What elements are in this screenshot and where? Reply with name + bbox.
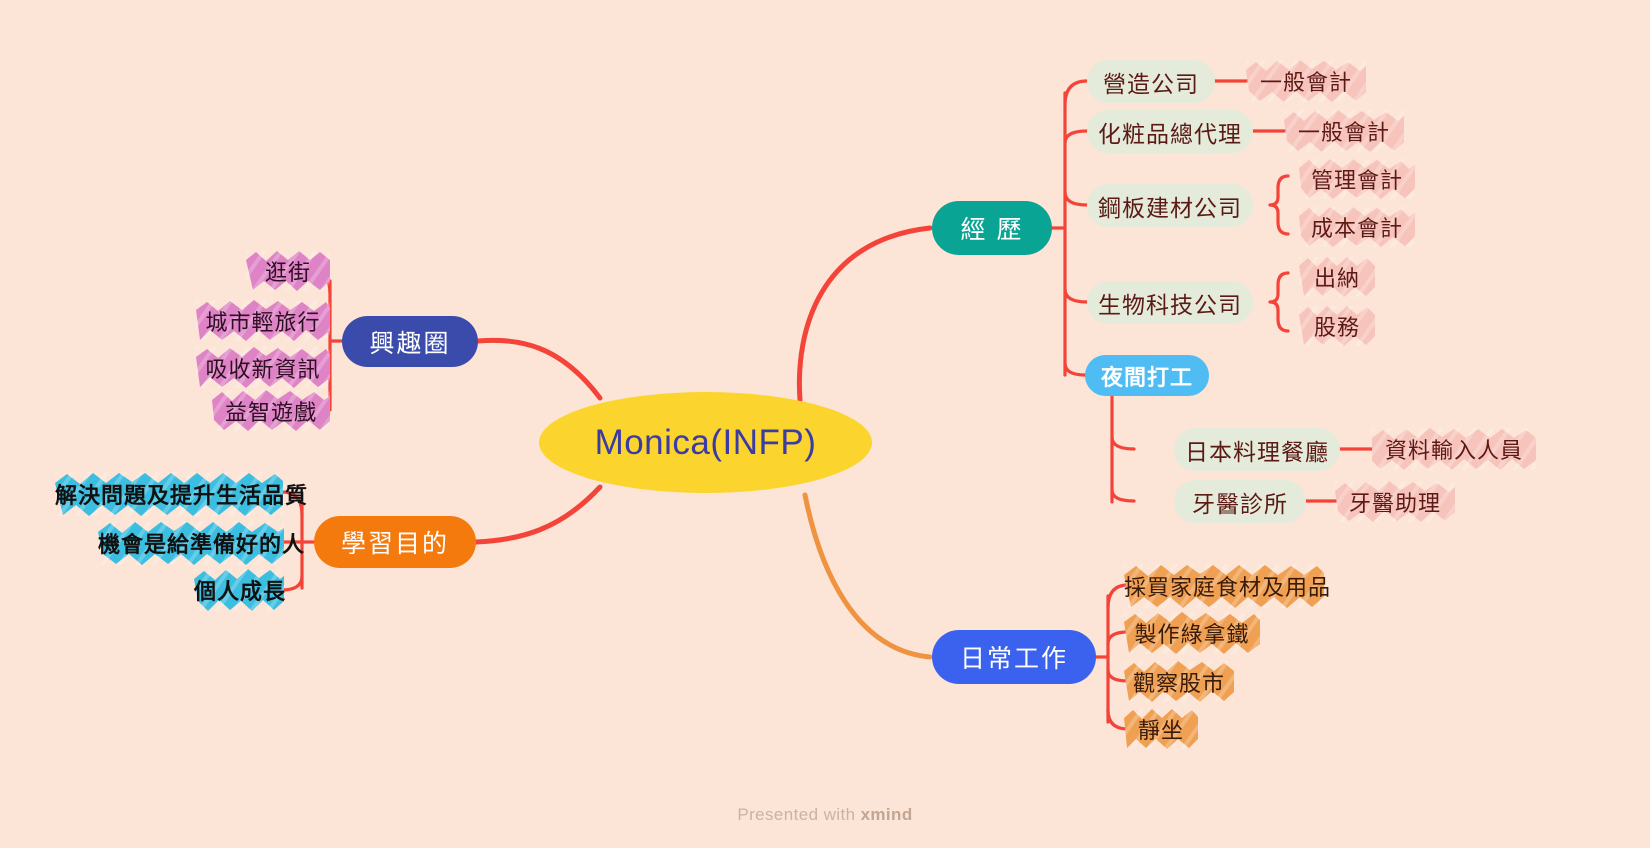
node-construction-company[interactable]: 營造公司 bbox=[1087, 60, 1215, 103]
leaf-solve-problems[interactable]: 解決問題及提升生活品質 bbox=[55, 470, 283, 518]
node-night-job-label: 夜間打工 bbox=[1101, 360, 1193, 392]
leaf-stock-affairs[interactable]: 股務 bbox=[1299, 304, 1375, 348]
leaf-puzzle-games-label: 益智遊戲 bbox=[212, 395, 330, 427]
leaf-green-latte-label: 製作綠拿鐵 bbox=[1124, 617, 1260, 649]
branch-label-experience: 經 歷 bbox=[961, 210, 1024, 246]
leaf-buy-groceries-label: 採買家庭食材及用品 bbox=[1124, 570, 1324, 602]
connector-group-nightjob-children bbox=[1112, 397, 1134, 502]
connector-group-experience-children bbox=[1052, 81, 1087, 375]
leaf-buy-groceries[interactable]: 採買家庭食材及用品 bbox=[1124, 562, 1324, 610]
leaf-meditation-label: 靜坐 bbox=[1124, 713, 1198, 745]
node-construction-company-label: 營造公司 bbox=[1103, 65, 1199, 99]
leaf-solve-problems-label: 解決問題及提升生活品質 bbox=[55, 478, 283, 510]
node-cosmetics-agency[interactable]: 化粧品總代理 bbox=[1087, 110, 1253, 153]
leaf-watch-stock-market-label: 觀察股市 bbox=[1124, 666, 1234, 698]
leaf-general-accounting-1-label: 一般會計 bbox=[1246, 65, 1366, 97]
xmind-watermark: Presented with xmind bbox=[0, 805, 1650, 825]
leaf-shopping-label: 逛街 bbox=[246, 255, 330, 287]
leaf-data-entry-staff[interactable]: 資料輸入人員 bbox=[1372, 426, 1536, 472]
leaf-new-information[interactable]: 吸收新資訊 bbox=[196, 345, 330, 390]
node-steel-materials-company[interactable]: 鋼板建材公司 bbox=[1087, 184, 1253, 227]
connector-central-interests bbox=[478, 340, 600, 398]
leaf-dental-assistant-label: 牙醫助理 bbox=[1335, 486, 1455, 518]
branch-node-interests[interactable]: 興趣圈 bbox=[342, 316, 478, 367]
node-cosmetics-agency-label: 化粧品總代理 bbox=[1098, 115, 1242, 149]
branch-label-learning-goals: 學習目的 bbox=[341, 524, 449, 560]
watermark-prefix: Presented with bbox=[737, 805, 860, 824]
node-japanese-restaurant-label: 日本料理餐廳 bbox=[1185, 433, 1329, 467]
leaf-cost-accounting-label: 成本會計 bbox=[1299, 211, 1415, 243]
node-dental-clinic-label: 牙醫診所 bbox=[1192, 485, 1288, 519]
branch-node-daily-work[interactable]: 日常工作 bbox=[932, 630, 1096, 684]
connector-central-learning bbox=[476, 487, 600, 542]
branch-node-learning-goals[interactable]: 學習目的 bbox=[314, 516, 476, 568]
leaf-meditation[interactable]: 靜坐 bbox=[1124, 707, 1198, 751]
leaf-data-entry-staff-label: 資料輸入人員 bbox=[1372, 433, 1536, 465]
leaf-puzzle-games[interactable]: 益智遊戲 bbox=[212, 388, 330, 433]
node-biotech-company[interactable]: 生物科技公司 bbox=[1087, 281, 1253, 324]
node-dental-clinic[interactable]: 牙醫診所 bbox=[1174, 480, 1306, 523]
leaf-opportunity-prepared-label: 機會是給準備好的人 bbox=[98, 527, 284, 559]
leaf-personal-growth[interactable]: 個人成長 bbox=[194, 567, 284, 613]
node-japanese-restaurant[interactable]: 日本料理餐廳 bbox=[1174, 428, 1340, 471]
leaf-stock-affairs-label: 股務 bbox=[1299, 310, 1375, 342]
leaf-city-trip[interactable]: 城市輕旅行 bbox=[196, 298, 330, 343]
central-node-label: Monica(INFP) bbox=[595, 423, 817, 463]
leaf-city-trip-label: 城市輕旅行 bbox=[196, 305, 330, 337]
leaf-personal-growth-label: 個人成長 bbox=[194, 574, 284, 606]
watermark-brand: xmind bbox=[861, 805, 913, 824]
central-node[interactable]: Monica(INFP) bbox=[539, 392, 872, 493]
connector-central-daily bbox=[805, 495, 930, 657]
brace-steel bbox=[1270, 176, 1288, 234]
leaf-dental-assistant[interactable]: 牙醫助理 bbox=[1335, 479, 1455, 524]
branch-label-daily-work: 日常工作 bbox=[960, 639, 1068, 675]
connector-central-experience bbox=[799, 228, 930, 400]
leaf-management-accounting[interactable]: 管理會計 bbox=[1299, 157, 1415, 201]
leaf-management-accounting-label: 管理會計 bbox=[1299, 163, 1415, 195]
leaf-cashier-label: 出納 bbox=[1299, 261, 1375, 293]
leaf-watch-stock-market[interactable]: 觀察股市 bbox=[1124, 659, 1234, 704]
brace-biotech bbox=[1270, 273, 1288, 331]
leaf-new-information-label: 吸收新資訊 bbox=[196, 352, 330, 384]
leaf-general-accounting-2-label: 一般會計 bbox=[1284, 115, 1404, 147]
node-biotech-company-label: 生物科技公司 bbox=[1098, 286, 1242, 320]
leaf-general-accounting-2[interactable]: 一般會計 bbox=[1284, 108, 1404, 154]
leaf-cost-accounting[interactable]: 成本會計 bbox=[1299, 205, 1415, 249]
branch-node-experience[interactable]: 經 歷 bbox=[932, 201, 1052, 255]
branch-label-interests: 興趣圈 bbox=[369, 324, 450, 360]
node-steel-materials-company-label: 鋼板建材公司 bbox=[1098, 189, 1242, 223]
leaf-shopping[interactable]: 逛街 bbox=[246, 249, 330, 293]
leaf-general-accounting-1[interactable]: 一般會計 bbox=[1246, 58, 1366, 104]
node-night-job[interactable]: 夜間打工 bbox=[1085, 355, 1209, 396]
mindmap-canvas: Monica(INFP) 經 歷 興趣圈 學習目的 日常工作 夜間打工 營造公司… bbox=[0, 0, 1650, 848]
leaf-green-latte[interactable]: 製作綠拿鐵 bbox=[1124, 610, 1260, 656]
leaf-opportunity-prepared[interactable]: 機會是給準備好的人 bbox=[98, 519, 284, 567]
leaf-cashier[interactable]: 出納 bbox=[1299, 255, 1375, 299]
